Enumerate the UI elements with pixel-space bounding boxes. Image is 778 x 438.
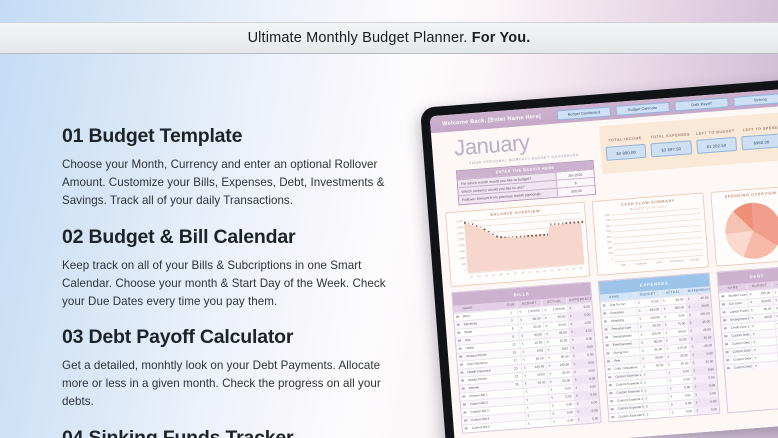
page-title: Ultimate Monthly Budget Planner. For You… bbox=[248, 30, 531, 46]
feature-heading: 03 Debt Payoff Calculator bbox=[62, 327, 402, 349]
row-actual-value: 45.00 bbox=[680, 353, 688, 358]
y-tick-label: 300 bbox=[607, 242, 612, 245]
y-tick-label: 800 bbox=[605, 214, 610, 217]
row-diff-value: 40.00 bbox=[703, 327, 711, 332]
row-budget-value: 60.00 bbox=[764, 307, 772, 312]
table-bills: BILLSNAMEDUEBUDGETACTUALDIFFERENCERent1$… bbox=[451, 281, 601, 433]
row-actual-value: 95.00 bbox=[561, 354, 569, 359]
row-budget-value: 1 050.00 bbox=[528, 308, 540, 313]
row-diff-value: -20.00 bbox=[703, 343, 712, 348]
chart-card-cash-flow-summary: CASH FLOW SUMMARY BUDGET vs ACTUAL 80070… bbox=[592, 192, 709, 275]
row-actual-value: 0.00 bbox=[685, 401, 691, 405]
row-diff-value: 0.00 bbox=[711, 407, 717, 411]
data-point bbox=[527, 235, 529, 237]
row-actual-value: 32.00 bbox=[558, 323, 566, 328]
x-tick-label: 31 bbox=[577, 264, 585, 272]
y-tick-label: 1,500 bbox=[458, 251, 465, 254]
spreadsheet-body: January YOUR PERSONAL MONTHLY BUDGET DAS… bbox=[431, 105, 778, 433]
tablet-device-mockup: Welcome Back, [Enter Name Here] Budget D… bbox=[420, 79, 778, 438]
row-budget-value: 70.00 bbox=[651, 299, 659, 304]
kpi-label: TOTAL INCOME bbox=[605, 136, 645, 143]
row-actual-value: 0.00 bbox=[567, 410, 573, 414]
row-due-day[interactable] bbox=[513, 404, 525, 412]
y-tick-label: 100 bbox=[608, 253, 613, 256]
row-actual-value: 55.00 bbox=[558, 315, 566, 320]
row-diff-value: 0.00 bbox=[588, 360, 594, 364]
x-tick-label: Expenses bbox=[632, 259, 650, 267]
y-tick-label: 4,000 bbox=[456, 221, 463, 224]
row-diff-value: 0.00 bbox=[709, 383, 715, 387]
spreadsheet-tab-budget-calendar[interactable]: Budget Calendar bbox=[615, 101, 670, 115]
row-budget-value: 30.00 bbox=[533, 324, 541, 329]
y-tick-label: 1,000 bbox=[459, 257, 466, 260]
row-due-day[interactable] bbox=[512, 389, 524, 397]
data-point bbox=[484, 228, 486, 230]
row-diff-value: 150.00 bbox=[700, 311, 710, 316]
row-budget-value: 50.00 bbox=[656, 363, 664, 368]
kpi-value: $980.00 bbox=[741, 133, 778, 150]
kpi-card: LEFT TO BUDGET$1 202.50 bbox=[695, 129, 737, 154]
row-diff-cell[interactable]: $0.00 bbox=[694, 406, 719, 415]
y-tick-label: 2,000 bbox=[458, 245, 465, 248]
data-point bbox=[496, 235, 498, 237]
row-actual-value: 35.00 bbox=[562, 370, 570, 375]
feature-heading: 02 Budget & Bill Calendar bbox=[62, 227, 402, 249]
device-bezel: Welcome Back, [Enter Name Here] Budget D… bbox=[420, 79, 778, 438]
x-tick-label: Investments bbox=[668, 257, 686, 265]
row-due-day[interactable]: 22 bbox=[511, 373, 523, 381]
feature-heading: 01 Budget Template bbox=[62, 126, 402, 148]
row-diff-value: 0.00 bbox=[584, 305, 590, 309]
row-budget-value: 150.00 bbox=[650, 315, 660, 320]
y-tick-label: 0 bbox=[465, 270, 467, 273]
feature-list: 01 Budget TemplateChoose your Month, Cur… bbox=[62, 126, 402, 438]
row-actual-cell[interactable]: $220.00 bbox=[772, 287, 778, 296]
feature-item: 03 Debt Payoff CalculatorGet a detailed,… bbox=[62, 327, 402, 411]
feature-item: 02 Budget & Bill CalendarKeep track on a… bbox=[62, 227, 402, 311]
row-actual-value: 0.00 bbox=[565, 386, 571, 390]
data-point bbox=[577, 222, 579, 224]
spreadsheet-tab-debt-payoff[interactable]: Debt Payoff bbox=[674, 97, 729, 111]
row-due-day[interactable] bbox=[514, 412, 526, 420]
x-tick-label: Debt bbox=[650, 258, 668, 266]
data-point bbox=[535, 235, 537, 237]
row-budget-value: 100.00 bbox=[651, 331, 661, 336]
bar-chart-series bbox=[611, 207, 703, 261]
row-diff-value: 0.00 bbox=[586, 337, 592, 341]
row-due-day[interactable]: 15 bbox=[509, 349, 521, 357]
row-diff-value: 0.00 bbox=[589, 376, 595, 380]
row-budget-value: 220.00 bbox=[761, 291, 771, 296]
y-tick-label: 2,500 bbox=[457, 239, 464, 242]
feature-body: Choose your Month, Currency and enter an… bbox=[62, 156, 402, 210]
row-actual-value: 0.00 bbox=[683, 369, 689, 373]
feature-body: Keep track on all of your Bills & Subcri… bbox=[62, 257, 402, 311]
page-title-regular: Ultimate Monthly Budget Planner. bbox=[248, 30, 472, 46]
row-actual-value: 50.00 bbox=[562, 378, 570, 383]
row-diff-value: 0.00 bbox=[592, 416, 598, 420]
bar-chart-plot: 8007006005004003002001000 BillsExpensesD… bbox=[597, 207, 705, 270]
row-due-day[interactable]: 25 bbox=[511, 381, 523, 389]
kpi-label: LEFT TO BUDGET bbox=[695, 129, 735, 136]
spreadsheet-tab-sinking[interactable]: Sinking bbox=[733, 92, 778, 106]
row-actual-value: 0.00 bbox=[685, 393, 691, 397]
row-actual-value: 35.00 bbox=[679, 337, 687, 342]
data-point bbox=[543, 234, 545, 236]
kpi-value: $3 597.50 bbox=[651, 140, 692, 157]
feature-item: 01 Budget TemplateChoose your Month, Cur… bbox=[62, 126, 402, 210]
data-point bbox=[573, 222, 575, 224]
feature-heading: 04 Sinking Funds Tracker bbox=[62, 428, 402, 438]
row-budget-value: 310.00 bbox=[761, 299, 771, 304]
pie-chart-series bbox=[723, 201, 778, 261]
kpi-value: $4 800.00 bbox=[606, 144, 647, 161]
row-budget-value: 60.00 bbox=[533, 316, 541, 321]
row-budget-value: 400.00 bbox=[650, 307, 660, 312]
chart-card-balance-overview: BALANCE OVERVIEW 4,0003,5003,0002,5002,0… bbox=[445, 201, 590, 287]
row-diff-value: 0.00 bbox=[587, 352, 593, 356]
row-diff-value: 0.00 bbox=[591, 400, 597, 404]
row-budget-cell[interactable]: $ bbox=[753, 361, 778, 370]
row-due-day[interactable]: 17 bbox=[509, 357, 521, 365]
device-screen: Welcome Back, [Enter Name Here] Budget D… bbox=[430, 89, 778, 438]
column-header: ACTUAL bbox=[771, 279, 778, 288]
row-diff-value: 5.00 bbox=[584, 313, 590, 317]
kpi-strip: TOTAL INCOME$4 800.00TOTAL EXPENSES$3 59… bbox=[599, 112, 778, 174]
data-point bbox=[504, 236, 506, 238]
row-actual-value: 0.00 bbox=[679, 313, 685, 317]
row-diff-value: 0.00 bbox=[588, 368, 594, 372]
data-point bbox=[531, 235, 533, 237]
y-tick-label: 0 bbox=[612, 258, 614, 261]
kpi-label: LEFT TO SPEND bbox=[740, 125, 778, 132]
data-point bbox=[566, 222, 568, 224]
column-header: DUE bbox=[505, 301, 517, 309]
row-name[interactable]: Custom Debt 5 bbox=[732, 363, 753, 372]
row-budget-value: 40.00 bbox=[764, 315, 772, 320]
row-diff-value: 0.00 bbox=[592, 408, 598, 412]
y-tick-label: 400 bbox=[607, 236, 612, 239]
row-actual-value: 380.00 bbox=[674, 305, 684, 310]
x-tick-label: Savings bbox=[685, 255, 703, 263]
y-tick-label: 3,000 bbox=[457, 233, 464, 236]
row-budget-cell[interactable]: $ bbox=[644, 409, 669, 418]
row-actual-cell[interactable]: $0.00 bbox=[550, 417, 575, 426]
kpi-label: TOTAL EXPENSES bbox=[650, 132, 690, 139]
row-diff-value: -2.00 bbox=[584, 321, 591, 326]
row-budget-value: 140.00 bbox=[535, 364, 545, 369]
row-actual-cell[interactable]: $0.00 bbox=[774, 319, 778, 328]
data-point bbox=[520, 236, 522, 238]
row-budget-value: 9.00 bbox=[537, 348, 543, 352]
row-actual-cell[interactable]: $40.00 bbox=[774, 311, 778, 320]
data-point bbox=[581, 221, 583, 223]
row-diff-value: 0.00 bbox=[707, 351, 713, 355]
row-actual-value: 110.00 bbox=[678, 345, 688, 350]
row-actual-value: 80.00 bbox=[676, 297, 684, 302]
row-diff-cell[interactable]: $0.00 bbox=[575, 415, 600, 424]
page-title-bold: For You. bbox=[472, 30, 531, 46]
row-diff-value: 20.00 bbox=[701, 303, 709, 308]
tables-row: BILLSNAMEDUEBUDGETACTUALDIFFERENCERent1$… bbox=[451, 265, 778, 433]
y-tick-label: 500 bbox=[607, 231, 612, 234]
row-diff-value: 45.00 bbox=[704, 335, 712, 340]
row-budget-value: 90.00 bbox=[654, 347, 662, 352]
row-due-day[interactable]: 1 bbox=[506, 309, 518, 317]
basics-value-input[interactable]: 500.00 bbox=[557, 186, 595, 196]
row-diff-value: 0.00 bbox=[708, 375, 714, 379]
x-tick-label: Bills bbox=[614, 261, 632, 269]
row-actual-value: 140.00 bbox=[560, 362, 570, 367]
feature-body: Get a detailed, monhtly look on your Deb… bbox=[62, 357, 402, 411]
row-due-day[interactable]: 5 bbox=[506, 317, 518, 325]
row-diff-value: 0.00 bbox=[590, 392, 596, 396]
area-chart-plot: 4,0003,5003,0002,5002,0001,5001,0005000 … bbox=[450, 211, 586, 281]
row-actual-cell[interactable]: $60.00 bbox=[773, 303, 778, 312]
row-diff-value: 0.00 bbox=[710, 391, 716, 395]
row-actual-value: 25.00 bbox=[680, 361, 688, 366]
row-actual-value: 0.00 bbox=[683, 377, 689, 381]
row-budget-value: 40.00 bbox=[534, 332, 542, 337]
data-point bbox=[539, 234, 541, 236]
row-diff-value: 0.00 bbox=[590, 384, 596, 388]
row-actual-cell[interactable]: $0.00 bbox=[669, 407, 694, 416]
row-budget-value: 60.00 bbox=[652, 323, 660, 328]
data-point bbox=[524, 235, 526, 237]
row-due-day[interactable] bbox=[514, 420, 526, 428]
row-budget-value: 80.00 bbox=[654, 339, 662, 344]
y-tick-label: 600 bbox=[606, 225, 611, 228]
row-actual-value: 1 050.00 bbox=[553, 307, 565, 312]
y-tick-label: 500 bbox=[462, 264, 467, 267]
row-due-day[interactable]: 8 bbox=[508, 333, 520, 341]
row-diff-value: 2.00 bbox=[585, 329, 591, 333]
row-actual-value: 15.00 bbox=[559, 338, 567, 343]
data-point bbox=[570, 222, 572, 224]
y-tick-label: 3,500 bbox=[457, 227, 464, 230]
row-actual-value: 0.00 bbox=[567, 418, 573, 422]
area-chart-grid bbox=[464, 212, 585, 273]
row-diff-value: -10.00 bbox=[699, 296, 708, 301]
row-due-day[interactable]: 12 bbox=[508, 341, 520, 349]
row-actual-value: 75.00 bbox=[677, 321, 685, 326]
data-point bbox=[562, 223, 564, 225]
row-actual-value: 0.00 bbox=[686, 409, 692, 413]
row-actual-cell[interactable]: $310.00 bbox=[773, 295, 778, 304]
row-name[interactable]: Custom Expense 6 bbox=[616, 411, 644, 420]
row-budget-value: 50.00 bbox=[538, 380, 546, 385]
y-tick-label: 200 bbox=[608, 247, 613, 250]
row-diff-value: 0.00 bbox=[710, 399, 716, 403]
page-title-bar: Ultimate Monthly Budget Planner. For You… bbox=[0, 22, 778, 54]
row-diff-value: -15.00 bbox=[701, 319, 710, 324]
y-tick-label: 700 bbox=[606, 220, 611, 223]
row-budget-value: 15.00 bbox=[534, 340, 542, 345]
row-due-day[interactable]: 20 bbox=[510, 365, 522, 373]
month-column: January YOUR PERSONAL MONTHLY BUDGET DAS… bbox=[439, 127, 596, 206]
row-budget-value: 35.00 bbox=[537, 372, 545, 377]
data-point bbox=[464, 222, 466, 224]
row-budget-cell[interactable]: $ bbox=[525, 418, 550, 427]
row-diff-value: 0.00 bbox=[587, 345, 593, 349]
chart-card-spending-overview: SPENDING OVERVIEW bbox=[710, 185, 778, 266]
row-actual-value: 0.00 bbox=[565, 394, 571, 398]
row-actual-value: 9.00 bbox=[562, 346, 568, 350]
data-point bbox=[558, 223, 560, 225]
row-due-day[interactable] bbox=[512, 396, 524, 404]
row-budget-value: 45.00 bbox=[655, 355, 663, 360]
row-diff-value: 0.00 bbox=[708, 367, 714, 371]
kpi-card: TOTAL INCOME$4 800.00 bbox=[605, 136, 647, 161]
area-chart-series bbox=[464, 212, 585, 273]
data-point bbox=[488, 231, 490, 233]
row-diff-value: 25.00 bbox=[705, 359, 713, 364]
kpi-value: $1 202.50 bbox=[696, 137, 737, 154]
table-expenses: EXPENSESNAMEBUDGETACTUALDIFFERENCEGas fo… bbox=[598, 272, 721, 422]
row-actual-value: 60.00 bbox=[678, 329, 686, 334]
row-actual-value: 0.00 bbox=[566, 402, 572, 406]
row-actual-value: 0.00 bbox=[684, 385, 690, 389]
row-actual-value: 38.00 bbox=[559, 330, 567, 335]
table-debt: DEBTNAMEBUDGETACTUALStudent Loan$220.00$… bbox=[716, 265, 778, 413]
pie-chart-plot bbox=[715, 196, 778, 263]
kpi-card: TOTAL EXPENSES$3 597.50 bbox=[650, 132, 692, 157]
spreadsheet-tab-budget-dashboard[interactable]: Budget Dashboard bbox=[557, 106, 612, 120]
kpi-card: LEFT TO SPEND$980.00 bbox=[740, 125, 778, 150]
row-due-day[interactable]: 8 bbox=[507, 325, 519, 333]
row-budget-value: 95.00 bbox=[536, 356, 544, 361]
basics-panel: ENTER THE BASICS HERE For which month wo… bbox=[456, 160, 596, 205]
feature-item: 04 Sinking Funds TrackerSave towards one… bbox=[62, 428, 402, 438]
data-point bbox=[500, 236, 502, 238]
